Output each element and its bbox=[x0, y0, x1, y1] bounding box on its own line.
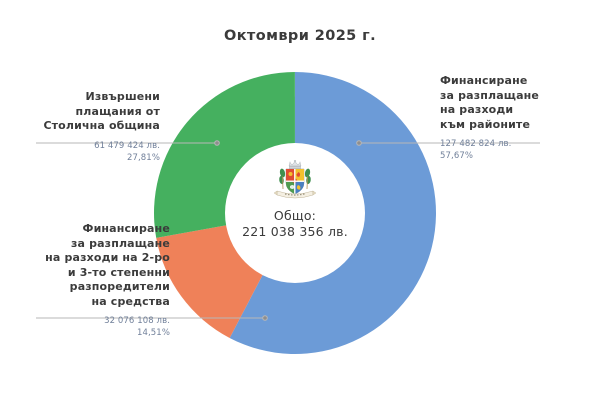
callout-amount: 127 482 824 лв. bbox=[440, 138, 590, 150]
callout-title: Финансиранеза разплащанена разходикъм ра… bbox=[440, 74, 590, 132]
callout-percent: 27,81% bbox=[10, 152, 160, 164]
callout-amount: 61 479 424 лв. bbox=[10, 140, 160, 152]
callout-financing-districts: Финансиранеза разплащанена разходикъм ра… bbox=[440, 74, 590, 162]
donut-hole bbox=[225, 143, 365, 283]
callout-financing-second-third-level: Финансиранеза разплащанена разходи на 2-… bbox=[10, 222, 170, 339]
chart-canvas: Октомври 2025 г. bbox=[0, 0, 600, 400]
callout-title: Финансиранеза разплащанена разходи на 2-… bbox=[10, 222, 170, 309]
callout-values: 61 479 424 лв. 27,81% bbox=[10, 140, 160, 164]
callout-payments-made: Извършениплащания отСтолична община 61 4… bbox=[10, 90, 160, 164]
callout-percent: 14,51% bbox=[10, 327, 170, 339]
callout-values: 127 482 824 лв. 57,67% bbox=[440, 138, 590, 162]
donut-chart bbox=[153, 71, 437, 355]
page-title: Октомври 2025 г. bbox=[0, 28, 600, 44]
callout-values: 32 076 108 лв. 14,51% bbox=[10, 315, 170, 339]
donut-svg bbox=[153, 71, 437, 355]
callout-amount: 32 076 108 лв. bbox=[10, 315, 170, 327]
callout-title: Извършениплащания отСтолична община bbox=[10, 90, 160, 134]
callout-percent: 57,67% bbox=[440, 150, 590, 162]
